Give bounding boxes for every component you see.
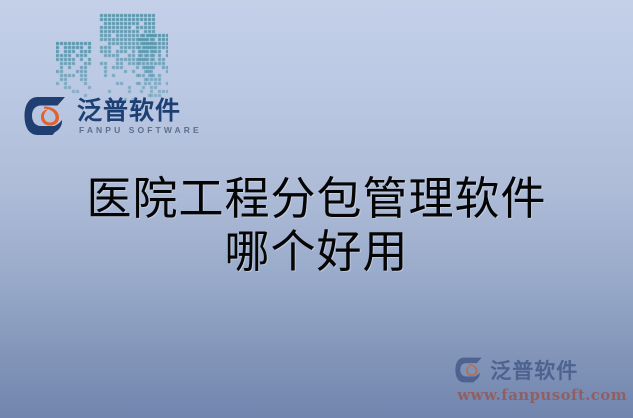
page-title-line-1: 医院工程分包管理软件	[0, 172, 633, 225]
brand-text-block: 泛普软件 FANPU SOFTWARE	[77, 98, 202, 135]
watermark: 泛普软件 www.fanpusoft.com	[455, 355, 627, 404]
brand-logo: 泛普软件 FANPU SOFTWARE	[24, 96, 202, 136]
slide-canvas: 泛普软件 FANPU SOFTWARE 医院工程分包管理软件 哪个好用 泛普软件…	[0, 0, 633, 418]
watermark-logo-row: 泛普软件	[455, 355, 627, 385]
brand-name-en: FANPU SOFTWARE	[79, 126, 202, 135]
page-title: 医院工程分包管理软件 哪个好用	[0, 172, 633, 278]
fanpu-logo-mark-watermark-icon	[455, 357, 485, 383]
page-title-line-2: 哪个好用	[0, 225, 633, 278]
watermark-url: www.fanpusoft.com	[457, 386, 627, 404]
watermark-brand-name: 泛普软件	[490, 355, 578, 385]
pixel-building-skyline-icon	[56, 6, 168, 102]
fanpu-logo-mark-icon	[24, 96, 70, 136]
brand-name-cn: 泛普软件	[77, 98, 202, 123]
